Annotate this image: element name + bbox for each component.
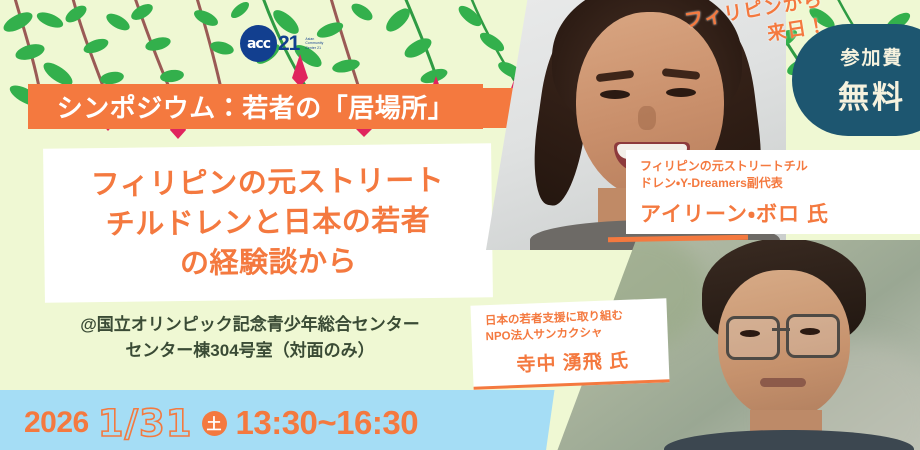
event-time-range: 13:30~16:30 [236,404,419,442]
photo-nose-1 [638,106,656,130]
speaker-card-teranaka: 日本の若者支援に取り組む NPO法人サンカクシャ 寺中 湧飛 氏 [470,298,669,389]
main-title-line-3: の経験談から [180,242,357,284]
event-poster: acc 21 Asian Community Center 21 シンポジウム：… [0,0,920,450]
venue-line-1: @国立オリンピック記念青少年総合センター [40,312,460,338]
venue-info: @国立オリンピック記念青少年総合センター センター棟304号室（対面のみ） [40,312,460,364]
admission-free-value: 無料 [838,72,906,117]
acc21-logo-text: acc [247,36,270,52]
acc21-logo-number: 21 [278,32,299,56]
speaker-1-role-line-1: フィリピンの元ストリートチル [640,158,908,175]
main-title-panel: フィリピンの元ストリート チルドレンと日本の若者 の経験談から [43,143,493,302]
photo-glasses-left-2 [726,316,780,360]
acc21-logo-subtitle: Asian Community Center 21 [305,37,323,50]
event-date-content: 2026 1/31 土 13:30~16:30 [24,395,418,450]
event-month-day: 1/31 [98,402,193,445]
acc21-logo-subtitle-line-3: Center 21 [305,46,323,50]
photo-eye-left-1 [600,90,630,99]
symposium-banner: シンポジウム：若者の「居場所」 [28,84,483,129]
event-year: 2026 [24,406,89,440]
symposium-banner-text: シンポジウム：若者の「居場所」 [57,88,455,125]
photo-eye-right-1 [666,88,696,97]
photo-glasses-right-2 [786,314,840,358]
admission-free-label: 参加費 [840,43,903,70]
venue-line-2: センター棟304号室（対面のみ） [40,338,460,364]
speaker-1-name: アイリーン・ボロ 氏 [640,198,908,228]
acc21-logo: acc 21 Asian Community Center 21 [240,25,323,62]
event-day-of-week-badge: 土 [202,411,227,436]
photo-eye-left-2 [740,330,760,337]
photo-mouth-2 [760,378,806,387]
acc21-logo-mark: acc [240,25,277,62]
speaker-1-role-line-2: ドレン・Y-Dreamers副代表 [640,175,908,192]
speaker-2-name: 寺中 湧飛 氏 [486,345,659,379]
speaker-card-boro: フィリピンの元ストリートチル ドレン・Y-Dreamers副代表 アイリーン・ボ… [626,150,920,234]
main-title-line-1: フィリピンの元ストリート [91,161,445,205]
admission-free-badge: 参加費 無料 [792,24,920,136]
main-title-line-2: チルドレンと日本の若者 [106,201,431,245]
photo-glasses-bridge-2 [772,328,790,331]
photo-eye-right-2 [800,328,820,335]
